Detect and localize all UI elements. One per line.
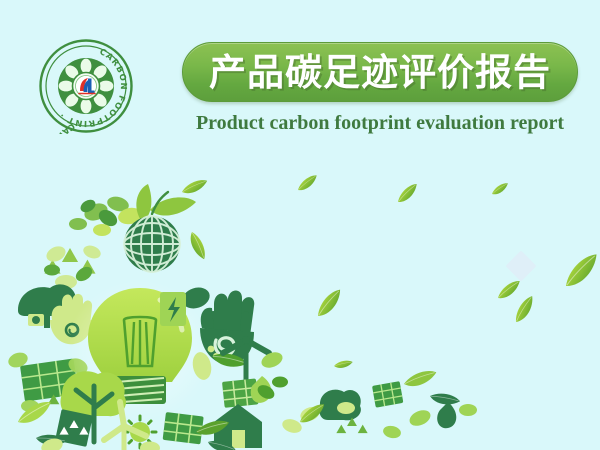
title-pill: 产品碳足迹评价报告 — [182, 42, 578, 102]
leaf-icon — [560, 251, 600, 291]
water-drop-icon — [437, 402, 456, 428]
carbon-footprint-logo: CARBON FOOTPRINT · CARBON FOOTPRINT · — [38, 38, 134, 134]
solar-panel-icon — [372, 381, 403, 408]
leaf-icon — [511, 294, 538, 325]
recycle-icon — [336, 417, 367, 437]
slide-canvas: CARBON FOOTPRINT · CARBON FOOTPRINT · — [0, 0, 600, 450]
battery-icon — [28, 314, 44, 326]
collage-upper-cluster — [44, 184, 196, 289]
leaf-icon — [180, 178, 209, 196]
collage-lower-right-trail — [280, 369, 477, 440]
header: CARBON FOOTPRINT · CARBON FOOTPRINT · — [0, 0, 600, 165]
globe-icon — [124, 216, 180, 272]
eco-collage-artwork — [0, 170, 600, 450]
leaf-icon — [395, 182, 421, 205]
page-title: 产品碳足迹评价报告 — [209, 54, 551, 91]
solar-panel-icon — [163, 412, 204, 444]
page-subtitle: Product carbon footprint evaluation repo… — [182, 112, 578, 135]
leaf-icon — [490, 181, 510, 196]
leaf-icon — [188, 230, 207, 261]
leaf-icon — [402, 369, 438, 389]
leaf-icon — [334, 360, 354, 369]
leaf-icon — [495, 278, 523, 301]
battery-icon — [160, 292, 186, 326]
leaf-icon — [313, 287, 346, 320]
leaf-icon — [295, 173, 319, 193]
